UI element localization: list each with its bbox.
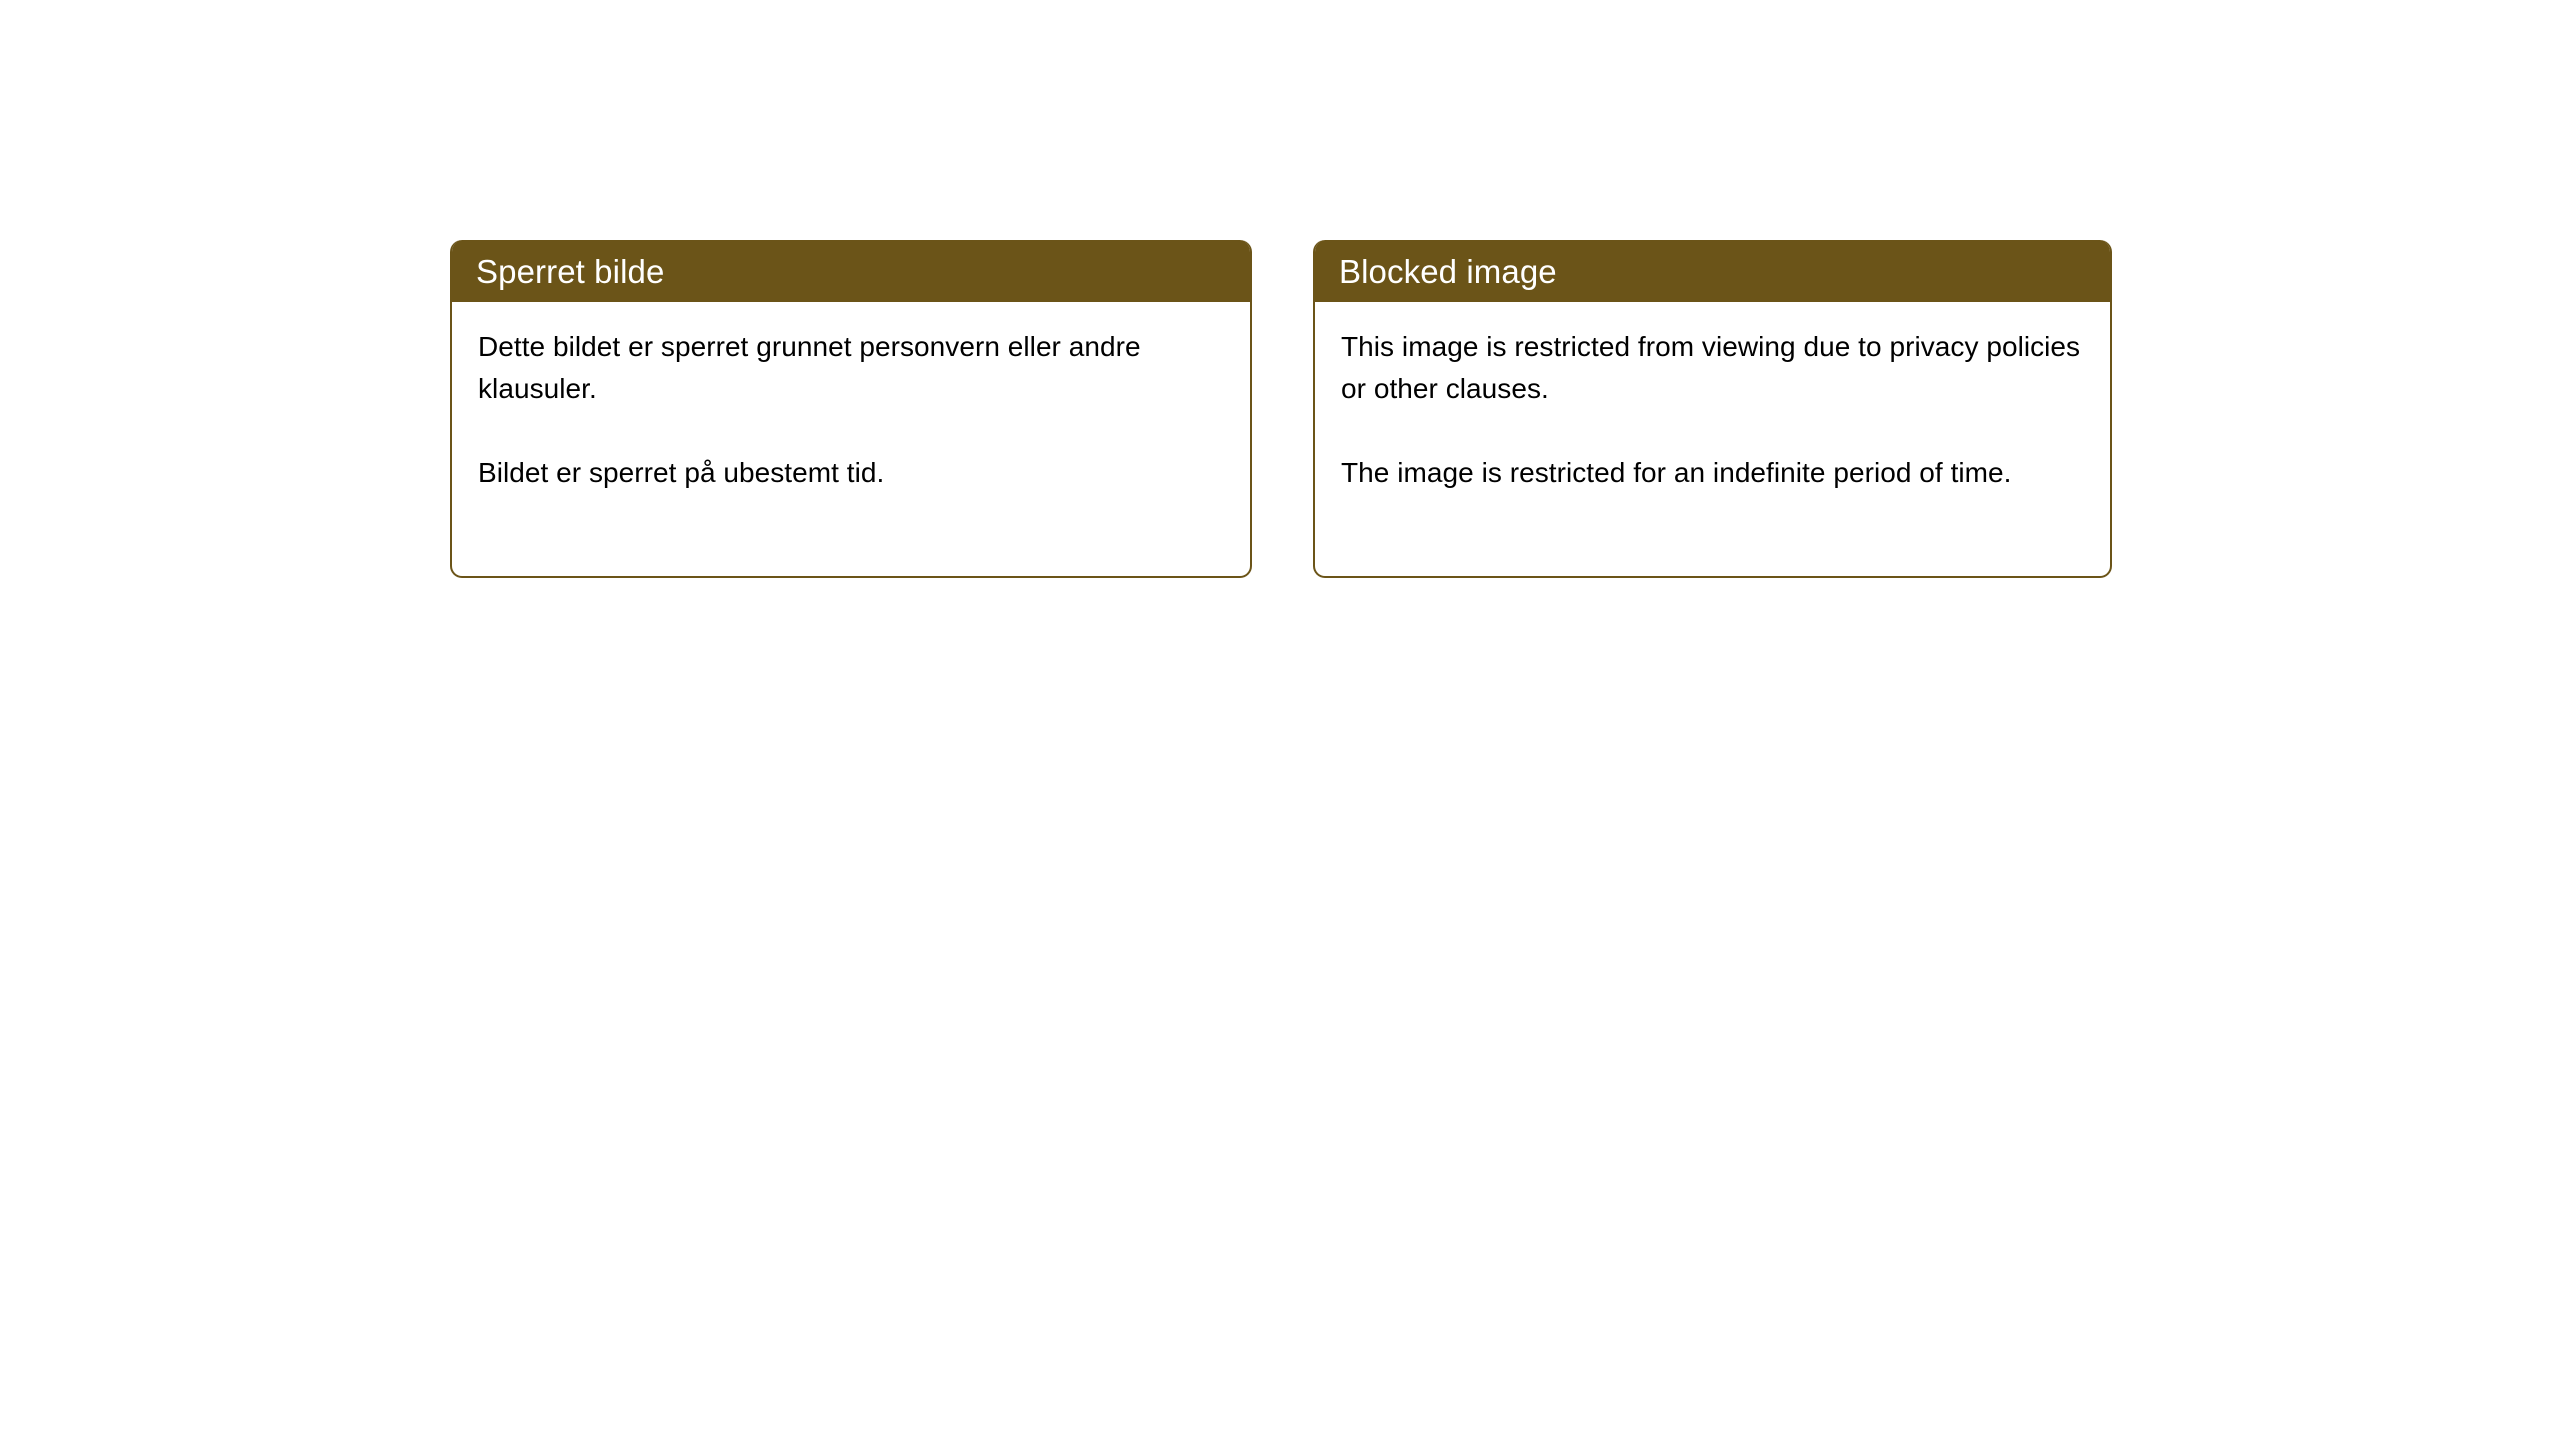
card-paragraph-reason-english: This image is restricted from viewing du…: [1341, 326, 2084, 410]
card-paragraph-duration-norwegian: Bildet er sperret på ubestemt tid.: [478, 452, 1224, 494]
card-paragraph-duration-english: The image is restricted for an indefinit…: [1341, 452, 2084, 494]
blocked-image-card-norwegian: Sperret bilde Dette bildet er sperret gr…: [450, 240, 1252, 578]
blocked-image-card-english: Blocked image This image is restricted f…: [1313, 240, 2112, 578]
card-header-norwegian: Sperret bilde: [450, 240, 1252, 302]
card-title-norwegian: Sperret bilde: [476, 255, 664, 288]
card-header-english: Blocked image: [1313, 240, 2112, 302]
card-body-english: This image is restricted from viewing du…: [1315, 302, 2110, 494]
card-title-english: Blocked image: [1339, 255, 1557, 288]
card-body-norwegian: Dette bildet er sperret grunnet personve…: [452, 302, 1250, 494]
card-paragraph-reason-norwegian: Dette bildet er sperret grunnet personve…: [478, 326, 1224, 410]
page-root: Sperret bilde Dette bildet er sperret gr…: [0, 0, 2560, 1440]
